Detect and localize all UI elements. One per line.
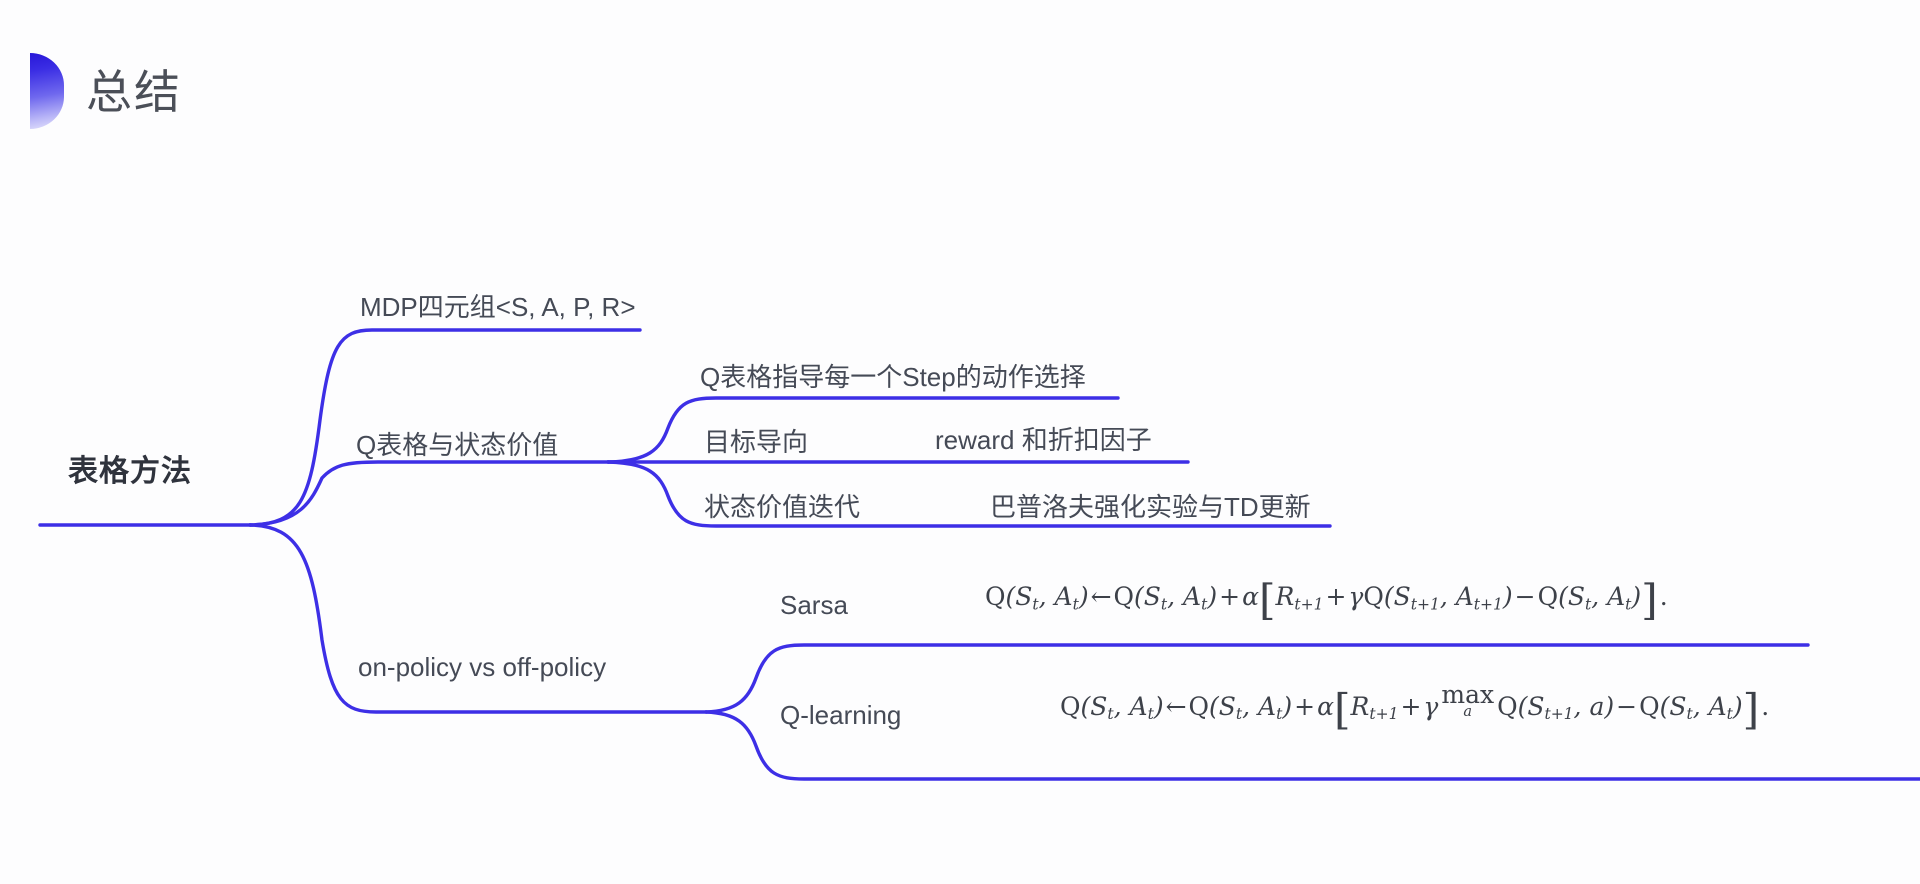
mindmap-node-sarsa[interactable]: Sarsa: [780, 588, 848, 622]
mindmap-node-reward-discount[interactable]: reward 和折扣因子: [935, 423, 1152, 457]
mindmap-canvas: 表格方法 MDP四元组<S, A, P, R> Q表格与状态价值 on-poli…: [0, 0, 1920, 884]
formula-qlearning-update: Q(St, At)←Q(St, At)+α[Rt+1+γmaxaQ(St+1, …: [1060, 682, 1771, 731]
mindmap-node-pavlov-td-update[interactable]: 巴普洛夫强化实验与TD更新: [990, 490, 1311, 524]
mindmap-node-qtable-step-action[interactable]: Q表格指导每一个Step的动作选择: [700, 360, 1086, 394]
mindmap-node-onpolicy-offpolicy[interactable]: on-policy vs off-policy: [358, 650, 606, 684]
mindmap-node-state-value-iteration[interactable]: 状态价值迭代: [704, 490, 860, 524]
mindmap-node-goal-oriented[interactable]: 目标导向: [704, 425, 808, 459]
mindmap-root-label[interactable]: 表格方法: [68, 455, 192, 489]
mindmap-node-qtable-state-value[interactable]: Q表格与状态价值: [356, 428, 558, 462]
mindmap-node-mdp-tuple[interactable]: MDP四元组<S, A, P, R>: [360, 290, 636, 324]
mindmap-node-qlearning[interactable]: Q-learning: [780, 698, 901, 732]
formula-sarsa-update: Q(St, At)←Q(St, At)+α[Rt+1+γQ(St+1, At+1…: [985, 580, 1670, 621]
